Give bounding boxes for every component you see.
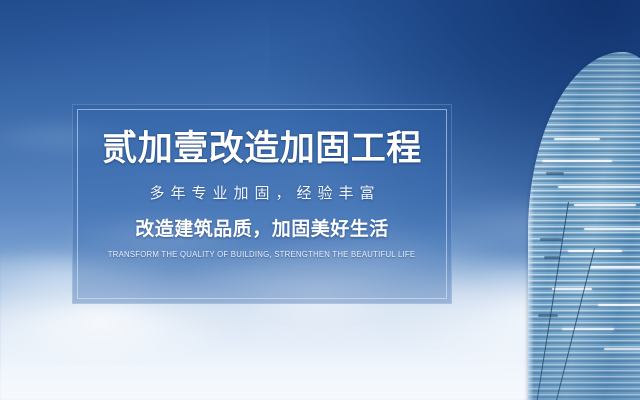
banner-english-tagline: TRANSFORM THE QUALITY OF BUILDING, STREN… — [108, 250, 416, 259]
banner-stage: 贰加壹改造加固工程 多年专业加固，经验丰富 改造建筑品质，加固美好生活 TRAN… — [0, 0, 640, 400]
skyscraper-edge-highlight — [528, 52, 534, 400]
skyscraper-body — [528, 52, 640, 400]
banner-tagline: 改造建筑品质，加固美好生活 — [135, 214, 389, 241]
banner-subtitle: 多年专业加固，经验丰富 — [143, 182, 380, 203]
hero-text-block: 贰加壹改造加固工程 多年专业加固，经验丰富 改造建筑品质，加固美好生活 TRAN… — [72, 104, 452, 304]
skyscraper-image — [520, 0, 640, 400]
skyscraper-shading — [528, 52, 640, 400]
banner-title: 贰加壹改造加固工程 — [102, 130, 422, 168]
